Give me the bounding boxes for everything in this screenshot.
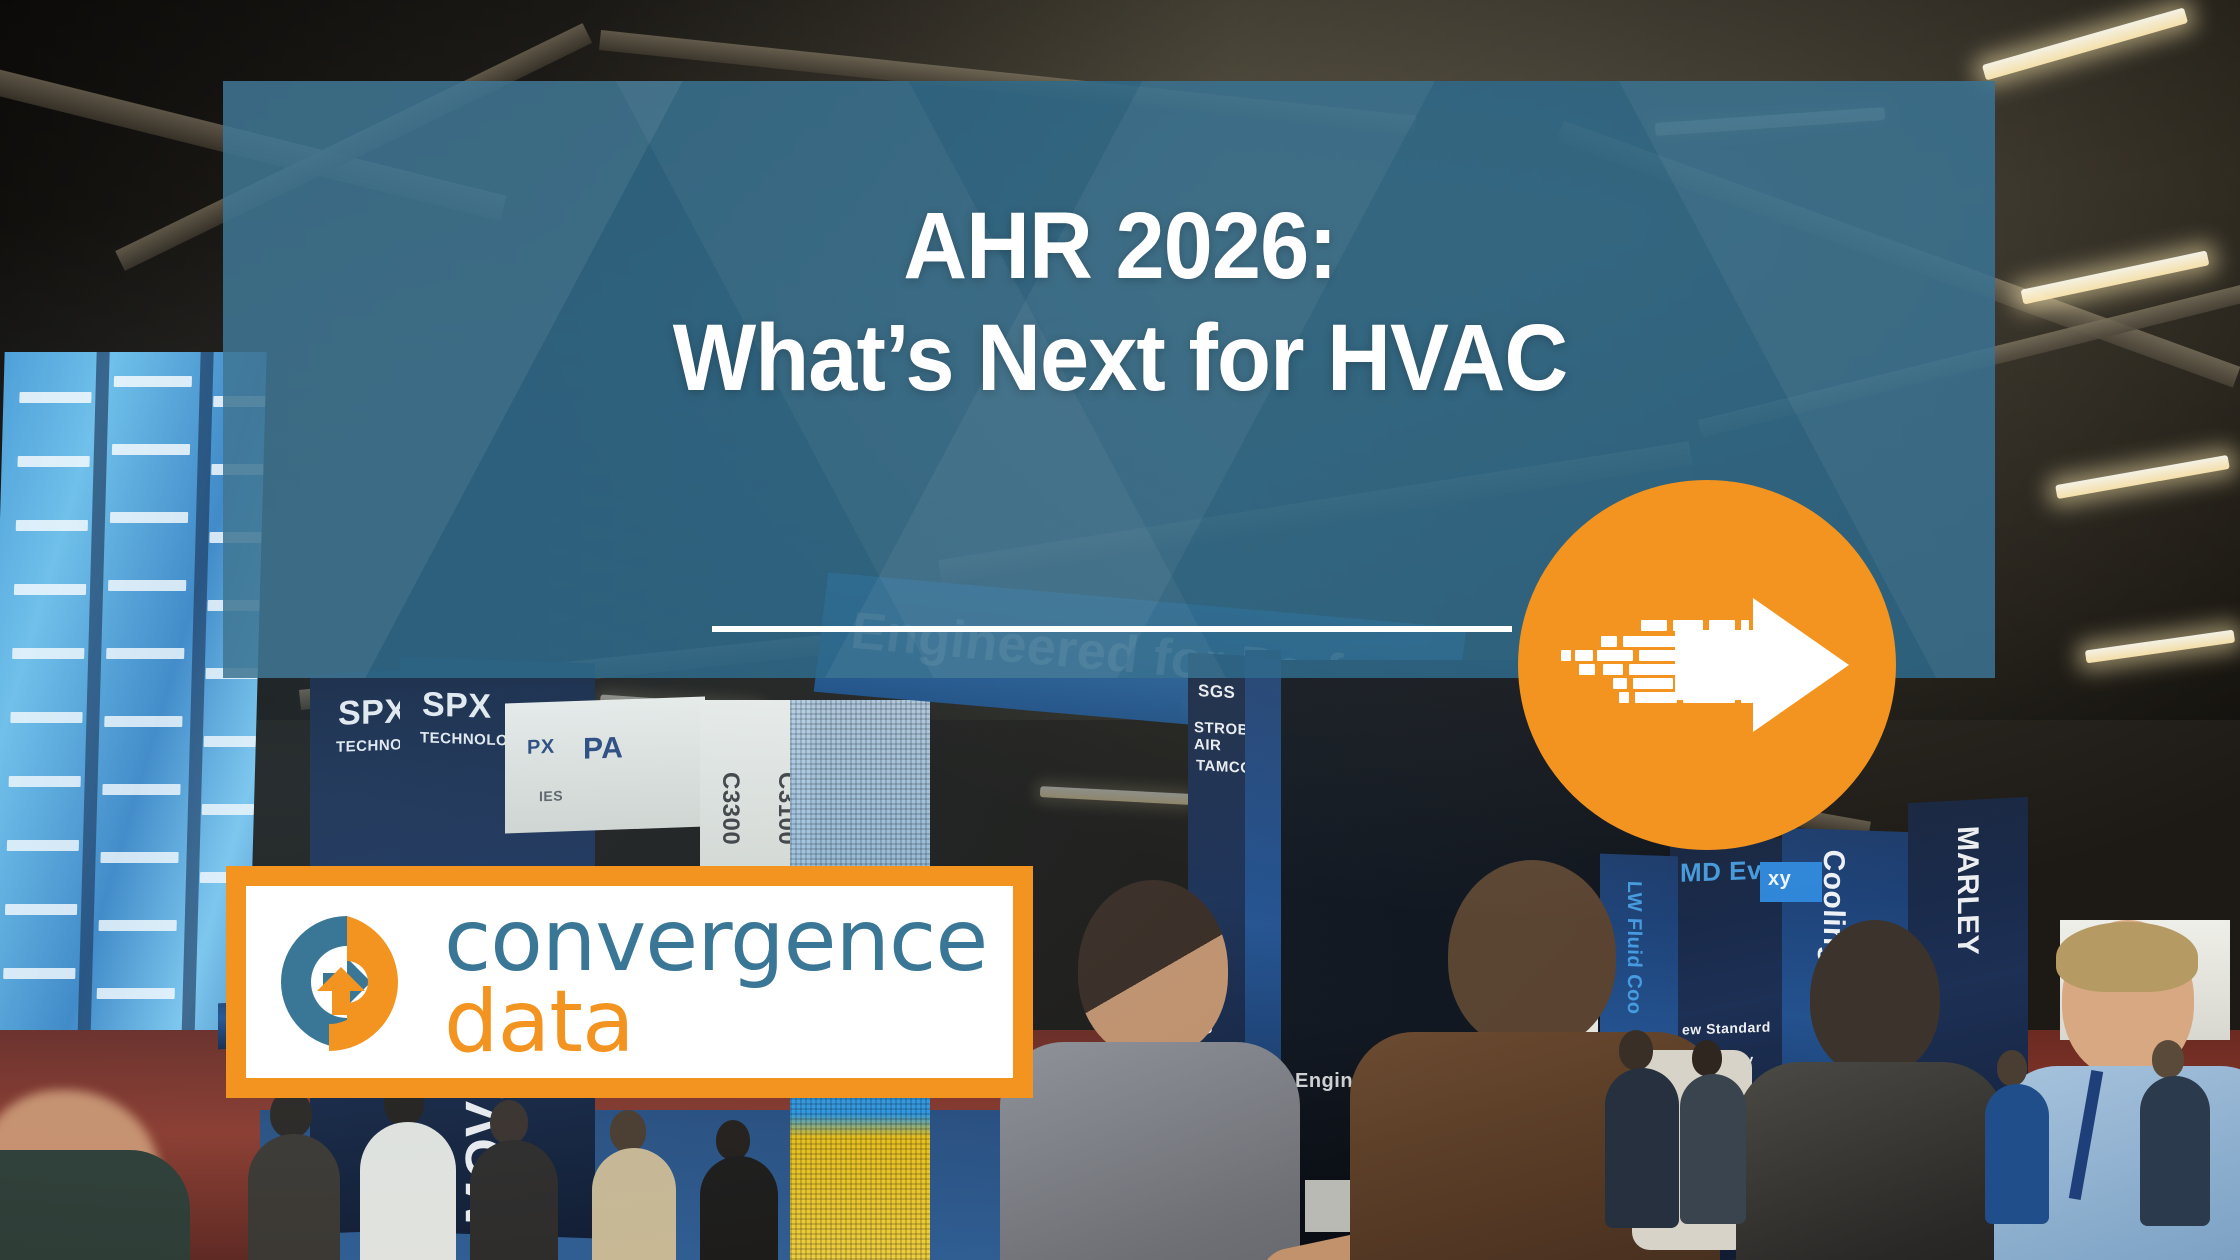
logo-word-convergence: convergence — [444, 902, 987, 981]
promo-graphic-canvas: SPX TECHNOLOGIES AIR SPX TECHNOLOGIES MO… — [0, 0, 2240, 1260]
fast-forward-arrow-icon — [1557, 590, 1857, 740]
logo-word-data: data — [444, 983, 987, 1062]
booth-sign-pa: PA PX IES — [505, 697, 705, 834]
ceiling-light — [1040, 786, 1190, 805]
logo-wordmark: convergence data — [444, 902, 987, 1062]
fast-forward-arrow-badge — [1518, 480, 1896, 850]
logo-card-inner: convergence data — [246, 886, 1013, 1078]
booth-sign-xy: xy — [1760, 862, 1822, 902]
foreground-person-sleeve — [0, 1150, 190, 1260]
convergence-data-logo-card: convergence data — [226, 866, 1033, 1098]
title-divider-rule — [712, 626, 1512, 632]
page-title: AHR 2026: What’s Next for HVAC — [78, 190, 2161, 414]
convergence-data-circular-arrows-mark — [272, 907, 422, 1057]
